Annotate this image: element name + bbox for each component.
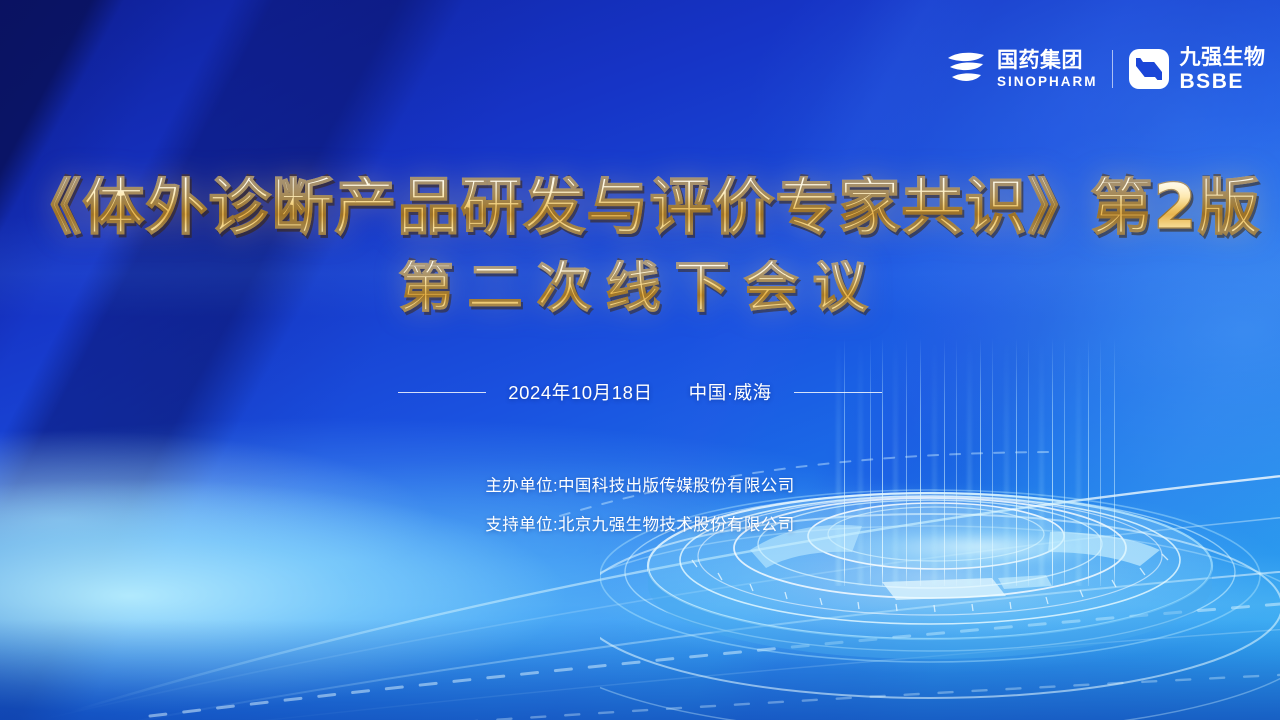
background-diagonal-stripes bbox=[0, 0, 1280, 720]
background-glow-bottom-left bbox=[0, 0, 1280, 720]
circular-hud-platform bbox=[600, 400, 1280, 720]
date-location-row: 2024年10月18日 中国·威海 bbox=[0, 379, 1280, 405]
sinopharm-cn-name: 国药集团 bbox=[997, 50, 1098, 71]
event-location: 中国·威海 bbox=[689, 379, 772, 405]
conference-backdrop: 国药集团 SINOPHARM 九强生物 BSBE 《体外诊断产品研发与评价专家共… bbox=[0, 0, 1280, 720]
background-base-gradient bbox=[0, 0, 1280, 720]
title-block: 《体外诊断产品研发与评价专家共识》第2版 第二次线下会议 bbox=[0, 176, 1280, 315]
sub-title: 第二次线下会议 bbox=[398, 260, 881, 315]
bsbe-logo: 九强生物 BSBE bbox=[1127, 47, 1266, 92]
main-title: 《体外诊断产品研发与评价专家共识》第2版 bbox=[19, 176, 1260, 238]
sweeping-arc-lines bbox=[0, 0, 1280, 720]
logo-divider bbox=[1112, 50, 1113, 88]
background-glow-top-right bbox=[0, 0, 1280, 720]
sinopharm-en-name: SINOPHARM bbox=[997, 75, 1098, 89]
organizer-host: 主办单位:中国科技出版传媒股份有限公司 bbox=[0, 478, 1280, 495]
meta-rule-left bbox=[398, 392, 486, 393]
sinopharm-wave-mark bbox=[944, 49, 988, 89]
bsbe-en-name: BSBE bbox=[1180, 71, 1266, 92]
organizer-supporter: 支持单位:北京九强生物技术股份有限公司 bbox=[0, 517, 1280, 534]
sinopharm-logo: 国药集团 SINOPHARM bbox=[944, 49, 1098, 89]
background-dark-diagonal-band bbox=[0, 0, 1280, 720]
meta-rule-right bbox=[794, 392, 882, 393]
organizers-block: 主办单位:中国科技出版传媒股份有限公司 支持单位:北京九强生物技术股份有限公司 bbox=[0, 478, 1280, 555]
bsbe-square-s-mark bbox=[1127, 47, 1171, 91]
event-date: 2024年10月18日 bbox=[508, 379, 652, 405]
bsbe-cn-name: 九强生物 bbox=[1180, 47, 1266, 68]
background-haze-bands bbox=[0, 0, 1280, 720]
background-floor-shade bbox=[0, 0, 1280, 720]
logo-bar: 国药集团 SINOPHARM 九强生物 BSBE bbox=[944, 40, 1266, 98]
